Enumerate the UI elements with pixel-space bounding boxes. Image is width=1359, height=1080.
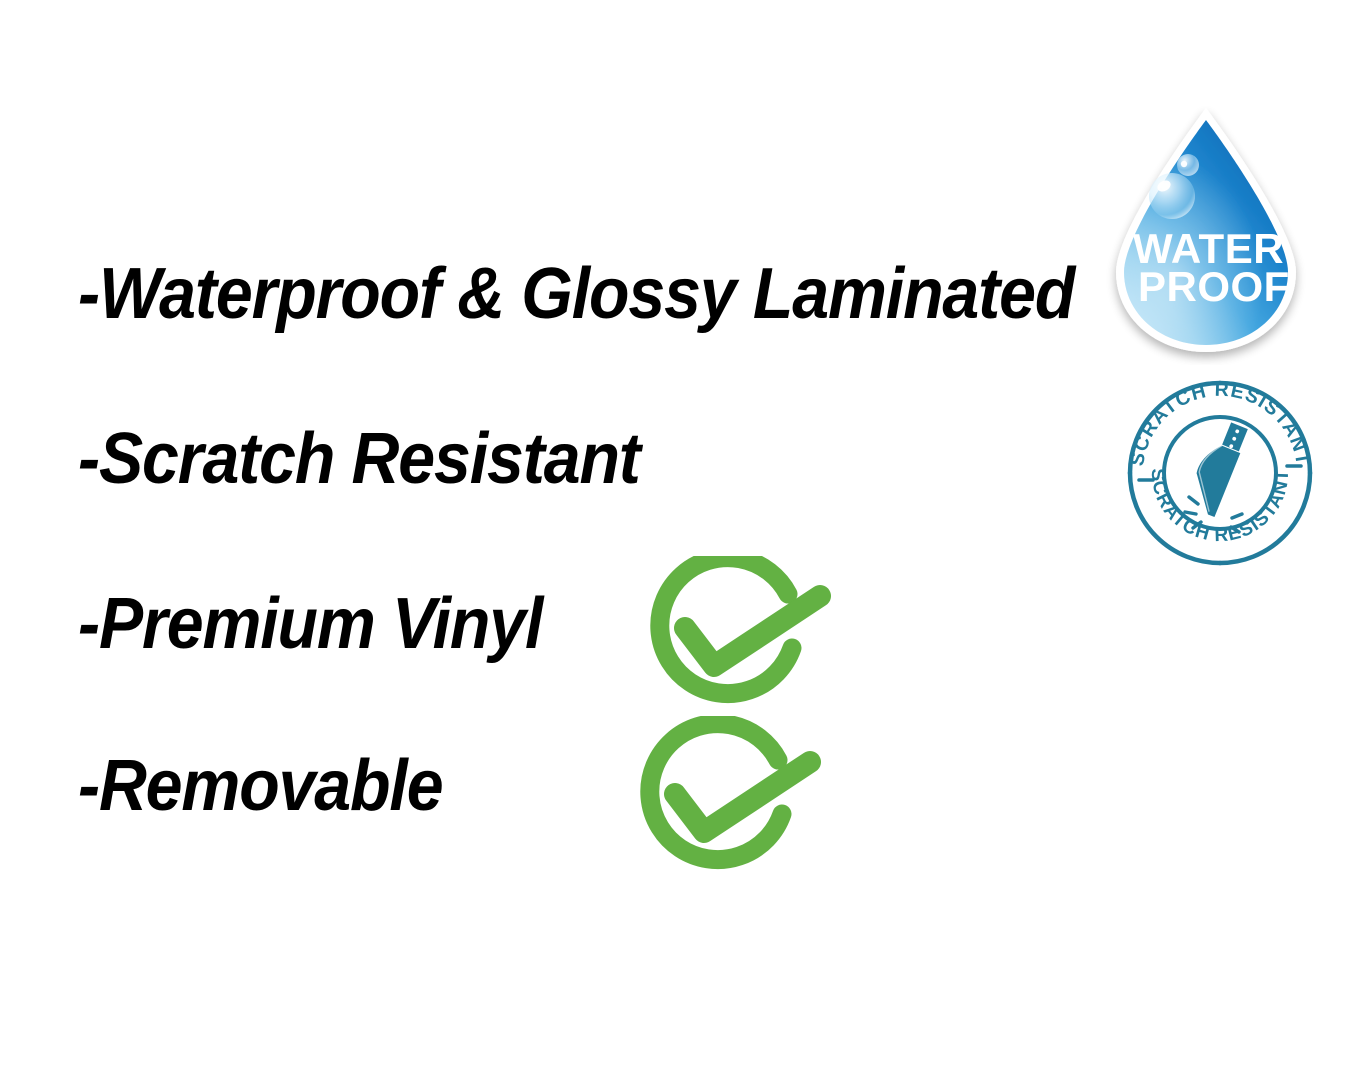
droplet-sheen (1124, 120, 1288, 345)
knife-handle (1222, 422, 1248, 451)
water-bubble-small (1177, 154, 1199, 176)
feature-label-waterproof: -Waterproof & Glossy Laminated (78, 258, 1074, 330)
feature-row: -Premium Vinyl (78, 588, 583, 660)
feature-row: -Scratch Resistant (78, 423, 689, 495)
scratch-resistant-stamp-icon: SCRATCH RESISTANT SCRATCH RESISTANT (1125, 378, 1315, 568)
feature-label-removable: -Removable (78, 750, 442, 822)
water-bubble-small-highlight (1181, 161, 1187, 167)
feature-label-premium-vinyl: -Premium Vinyl (78, 588, 542, 660)
green-check-circle-2 (630, 716, 830, 888)
waterproof-droplet-icon (1100, 100, 1315, 365)
waterproof-badge: WATER PROOF (1100, 100, 1315, 365)
green-check-circle-icon (630, 716, 830, 888)
scratch-resistant-badge: SCRATCH RESISTANT SCRATCH RESISTANT (1125, 378, 1315, 568)
check-mark-stroke (675, 762, 810, 832)
green-check-circle-icon (640, 556, 840, 716)
feature-label-scratch-resistant: -Scratch Resistant (78, 423, 640, 495)
water-bubble-large (1149, 173, 1195, 219)
feature-graphic-canvas: -Waterproof & Glossy Laminated -Scratch … (0, 0, 1359, 1080)
feature-row: -Waterproof & Glossy Laminated (78, 258, 1161, 330)
green-check-circle-1 (640, 556, 840, 716)
feature-row: -Removable (78, 750, 474, 822)
check-mark-stroke (685, 596, 820, 666)
